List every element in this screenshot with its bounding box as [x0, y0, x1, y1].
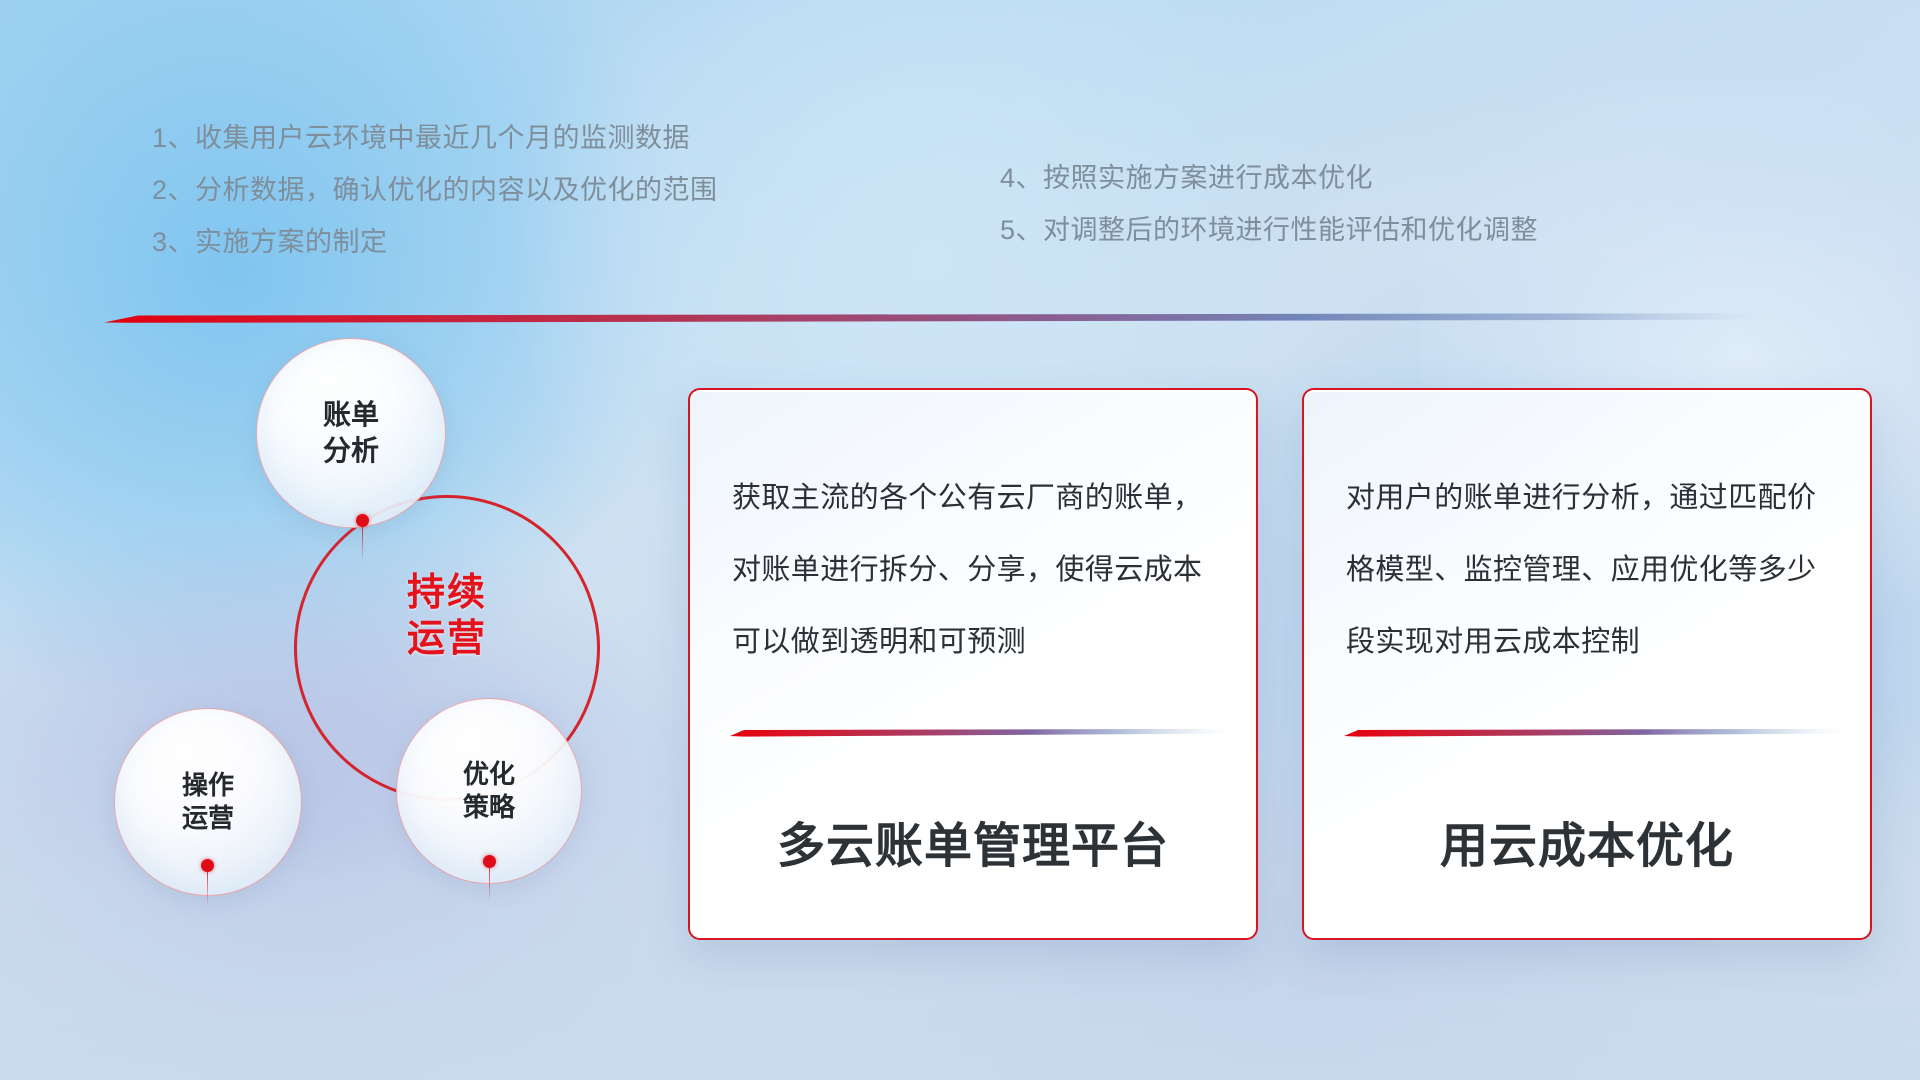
diagram-tail-left — [207, 871, 208, 907]
node-top-line2: 分析 — [323, 433, 379, 469]
step-line-1: 1、收集用户云环境中最近几个月的监测数据 — [152, 112, 718, 164]
node-left-line1: 操作 — [182, 769, 234, 802]
card-1-divider — [730, 728, 1230, 737]
diagram-node-billing-analysis[interactable]: 账单 分析 — [256, 338, 446, 528]
card-2-divider — [1344, 728, 1844, 737]
center-label-line2: 运营 — [294, 616, 600, 662]
step-line-3: 3、实施方案的制定 — [152, 216, 718, 268]
node-top-line1: 账单 — [323, 397, 379, 433]
steps-right-column: 4、按照实施方案进行成本优化 5、对调整后的环境进行性能评估和优化调整 — [1000, 152, 1538, 256]
section-divider-line — [104, 312, 1764, 324]
diagram-tail-right — [489, 867, 490, 903]
steps-left-column: 1、收集用户云环境中最近几个月的监测数据 2、分析数据，确认优化的内容以及优化的… — [152, 112, 718, 268]
card-multi-cloud-billing-platform[interactable]: 获取主流的各个公有云厂商的账单，对账单进行拆分、分享，使得云成本可以做到透明和可… — [688, 388, 1258, 940]
node-right-line1: 优化 — [463, 758, 515, 791]
node-right-line2: 策略 — [463, 791, 515, 824]
card-2-body-text: 对用户的账单进行分析，通过匹配价格模型、监控管理、应用优化等多少段实现对用云成本… — [1346, 462, 1842, 678]
diagram-center-label: 持续 运营 — [294, 570, 600, 663]
card-cloud-cost-optimization[interactable]: 对用户的账单进行分析，通过匹配价格模型、监控管理、应用优化等多少段实现对用云成本… — [1302, 388, 1872, 940]
center-label-line1: 持续 — [294, 570, 600, 616]
card-1-title: 多云账单管理平台 — [690, 806, 1256, 876]
step-line-4: 4、按照实施方案进行成本优化 — [1000, 152, 1538, 204]
step-line-5: 5、对调整后的环境进行性能评估和优化调整 — [1000, 204, 1538, 256]
step-line-2: 2、分析数据，确认优化的内容以及优化的范围 — [152, 164, 718, 216]
card-1-body-text: 获取主流的各个公有云厂商的账单，对账单进行拆分、分享，使得云成本可以做到透明和可… — [732, 462, 1228, 678]
node-left-line2: 运营 — [182, 802, 234, 835]
continuous-operation-diagram: 持续 运营 账单 分析 操作 运营 优化 策略 — [96, 330, 656, 950]
diagram-tail-top — [362, 526, 363, 562]
card-2-title: 用云成本优化 — [1304, 806, 1870, 876]
